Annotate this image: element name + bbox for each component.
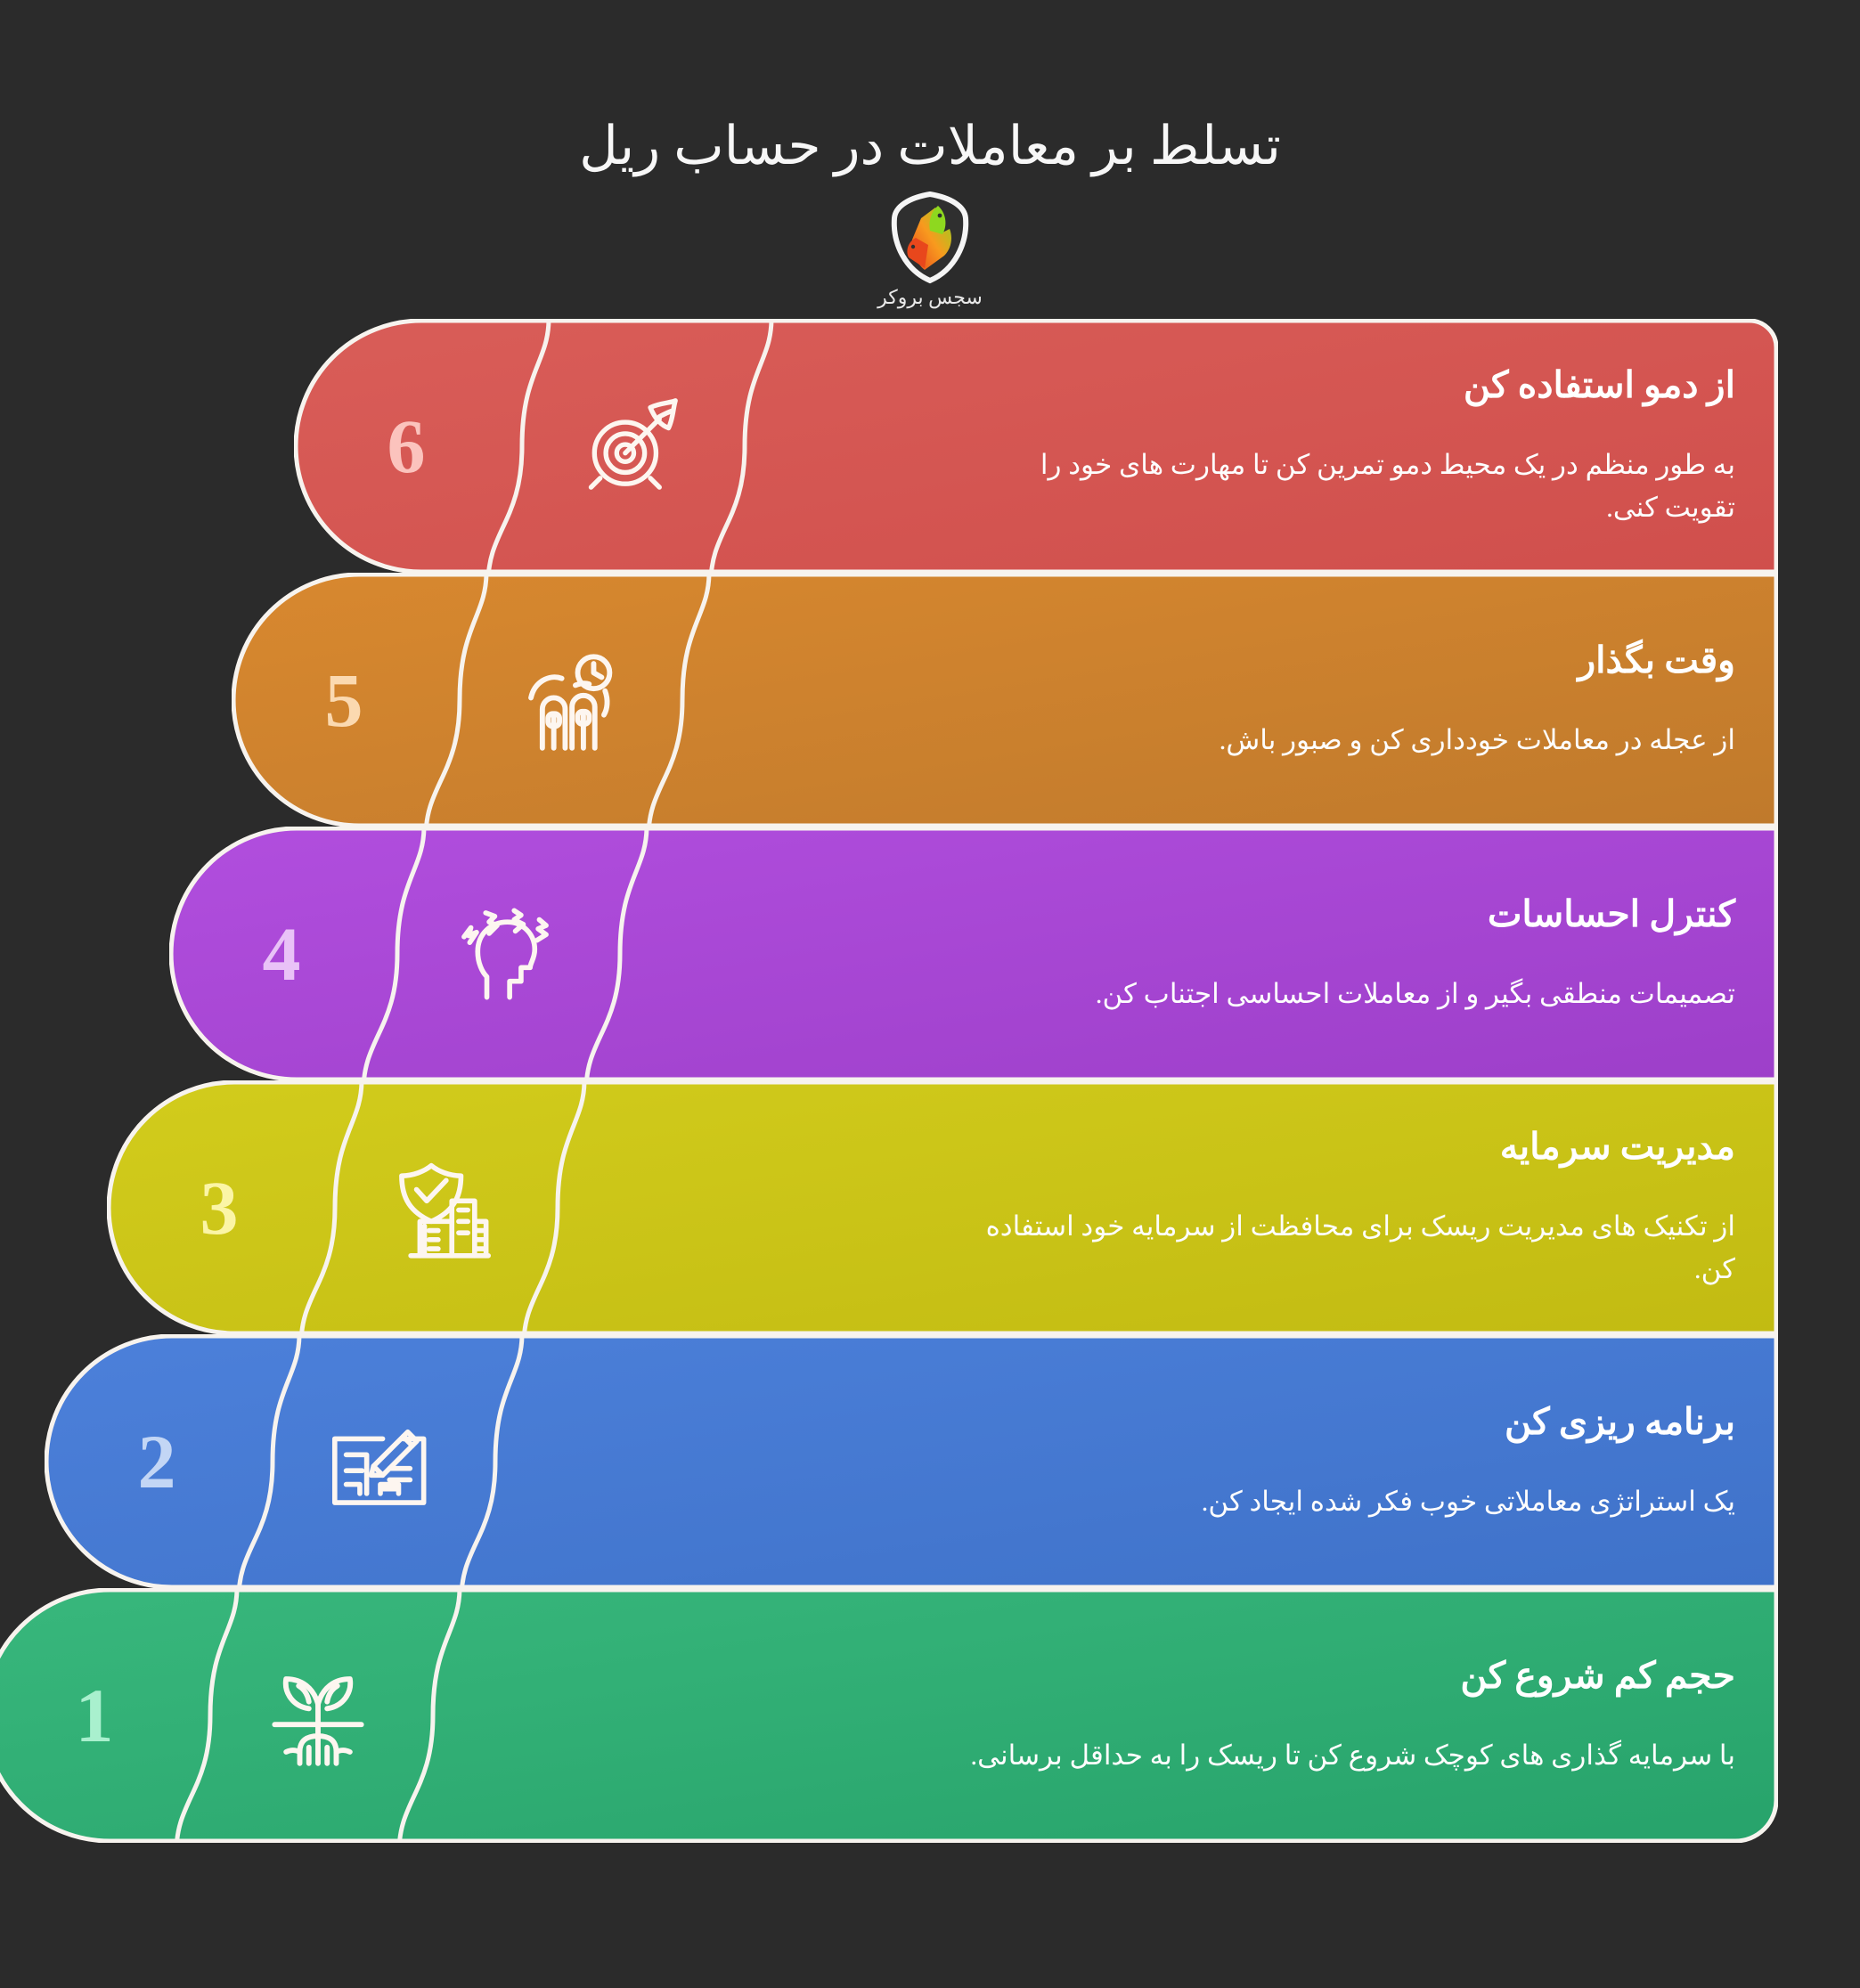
step-description: از عجله در معاملات خودداری کن و صبور باش… — [969, 719, 1735, 762]
header: تسلط بر معاملات در حساب ریل سجس بروکر — [0, 0, 1860, 309]
step-row[interactable]: 3 مدیریت سرمایهاز تکنیک های مدیریت ریسک … — [107, 1080, 1778, 1335]
step-heading: وقت بگذار — [741, 639, 1735, 682]
step-description: یک استراتژی معاملاتی خوب فکر شده ایجاد ک… — [969, 1480, 1735, 1523]
step-heading: مدیریت سرمایه — [616, 1125, 1735, 1169]
step-row[interactable]: 1 حجم کم شروع کنبا سرمایه گذاری های کوچک… — [0, 1588, 1778, 1843]
step-heading: از دمو استفاده کن — [804, 363, 1735, 407]
step-description: با سرمایه گذاری های کوچک شروع کن تا ریسک… — [969, 1734, 1735, 1777]
steps-stack: 6 از دمو استفاده کنبه طور منظم در یک محی… — [0, 319, 1860, 1922]
brand-block: سجس بروکر — [877, 191, 983, 309]
bull-bear-shield-logo-icon — [889, 191, 971, 284]
step-description: به طور منظم در یک محیط دمو تمرین کن تا م… — [969, 444, 1735, 529]
step-text-cell: وقت بگذاراز عجله در معاملات خودداری کن و… — [679, 573, 1778, 827]
step-row[interactable]: 5 وقت بگذاراز عجله در معاملات خودداری کن… — [232, 573, 1778, 827]
step-row[interactable]: 4 کنترل احساساتتصمیمات منطقی بگیر و از م… — [169, 827, 1778, 1081]
seedling-roots-icon — [207, 1588, 429, 1843]
step-row[interactable]: 6 از دمو استفاده کنبه طور منظم در یک محی… — [294, 319, 1778, 574]
step-description: تصمیمات منطقی بگیر و از معاملات احساسی ا… — [969, 973, 1735, 1015]
step-text-cell: برنامه ریزی کنیک استراتژی معاملاتی خوب ف… — [492, 1334, 1778, 1589]
step-text-cell: از دمو استفاده کنبه طور منظم در یک محیط … — [741, 319, 1778, 574]
step-heading: کنترل احساسات — [679, 892, 1735, 936]
brand-name: سجس بروکر — [877, 286, 983, 309]
head-lightning-icon — [394, 827, 616, 1081]
blueprint-pencil-icon — [269, 1334, 492, 1589]
step-description: از تکنیک های مدیریت ریسک برای محافظت از … — [969, 1205, 1735, 1291]
infographic-page: تسلط بر معاملات در حساب ریل سجس بروکر — [0, 0, 1860, 1988]
page-title: تسلط بر معاملات در حساب ریل — [0, 112, 1860, 181]
shield-check-buildings-icon — [331, 1080, 554, 1335]
step-text-cell: مدیریت سرمایهاز تکنیک های مدیریت ریسک بر… — [554, 1080, 1778, 1335]
step-row[interactable]: 2 برنامه ریزی کنیک استراتژی معاملاتی خوب… — [45, 1334, 1778, 1589]
step-text-cell: کنترل احساساتتصمیمات منطقی بگیر و از معا… — [616, 827, 1778, 1081]
people-clock-icon — [456, 573, 679, 827]
step-heading: حجم کم شروع کن — [492, 1654, 1735, 1698]
step-heading: برنامه ریزی کن — [554, 1400, 1735, 1444]
target-arrow-icon — [518, 319, 741, 574]
step-text-cell: حجم کم شروع کنبا سرمایه گذاری های کوچک ش… — [429, 1588, 1778, 1843]
